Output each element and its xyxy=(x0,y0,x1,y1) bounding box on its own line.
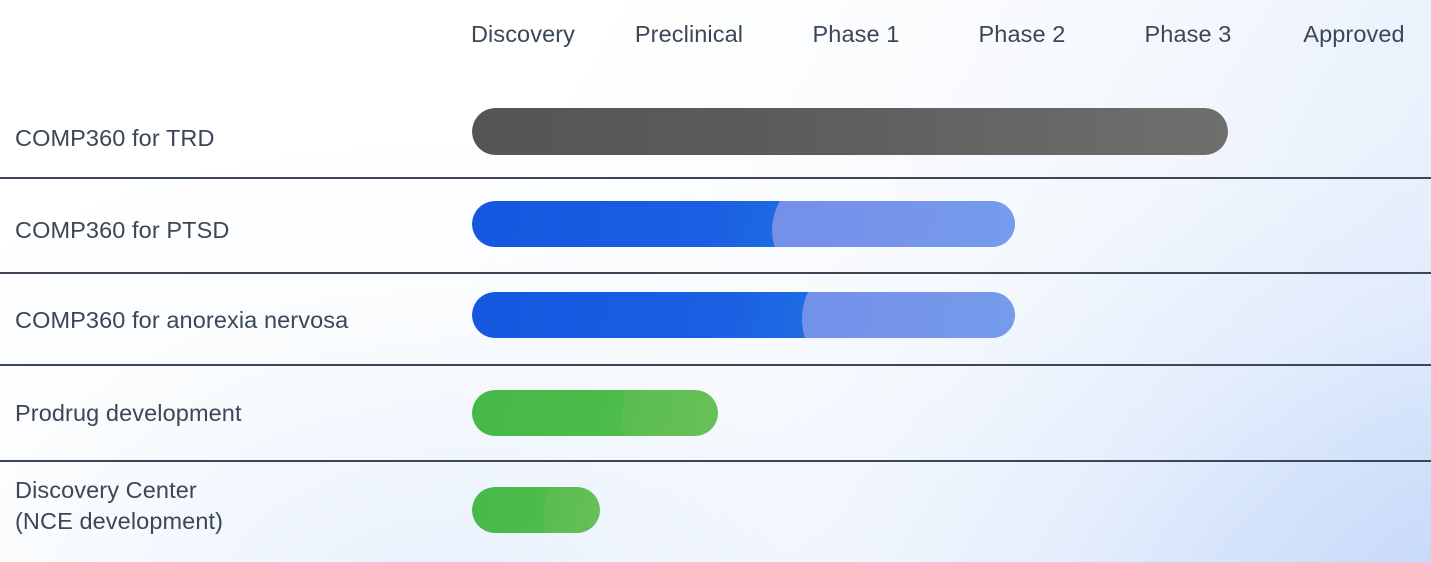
progress-bar-comp360-ptsd xyxy=(472,201,1015,247)
progress-bar-comp360-anorexia xyxy=(472,292,1015,338)
pipeline-chart: Discovery Preclinical Phase 1 Phase 2 Ph… xyxy=(0,0,1431,562)
progress-bar-discovery-center xyxy=(472,487,600,533)
row-label-comp360-trd: COMP360 for TRD xyxy=(15,123,215,154)
row-label-comp360-ptsd: COMP360 for PTSD xyxy=(15,215,229,246)
progress-bar-fill-discovery-center xyxy=(472,487,600,533)
progress-bar-fill-prodrug-development xyxy=(472,390,718,436)
row-label-comp360-anorexia: COMP360 for anorexia nervosa xyxy=(15,305,348,336)
pipeline-row-discovery-center: Discovery Center (NCE development) xyxy=(0,462,1431,562)
progress-bar-fill-comp360-anorexia xyxy=(472,292,1015,338)
progress-bar-fill-comp360-trd xyxy=(472,108,1228,155)
row-label-prodrug-development: Prodrug development xyxy=(15,398,242,429)
progress-bar-prodrug-development xyxy=(472,390,718,436)
row-label-discovery-center: Discovery Center (NCE development) xyxy=(15,475,223,536)
progress-bar-comp360-trd xyxy=(472,108,1228,155)
progress-bar-fill-comp360-ptsd xyxy=(472,201,1015,247)
